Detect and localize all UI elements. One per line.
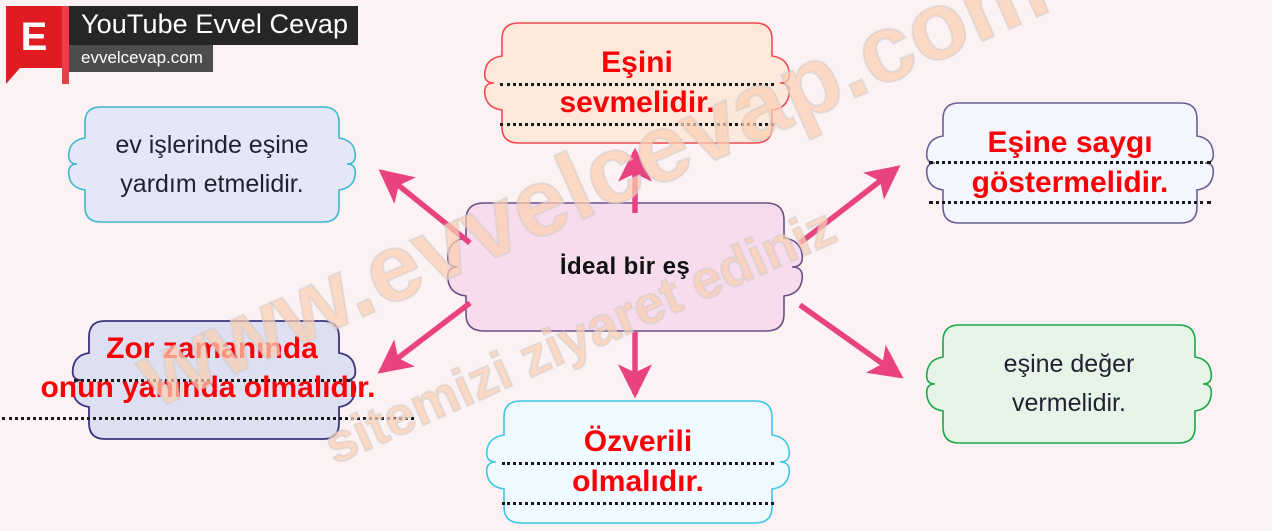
node-bottom-center-line2: olmalıdır. [502,466,774,498]
logo-letter: E [21,17,48,57]
node-bottom-left-line2: onun yanında olmalıdır. [0,372,416,404]
node-top-center-content: Eşini sevmelidir. [478,18,796,148]
node-top-left-line1: ev işlerinde eşine [115,126,308,165]
node-bottom-right-line1: eşine değer [1004,345,1135,384]
answer-line-1: Eşine saygı [929,127,1211,159]
node-bottom-left-line1: Zor zamanında [74,333,350,365]
node-top-center[interactable]: Eşini sevmelidir. [478,18,796,148]
dotted-rule [929,201,1211,204]
arrow-center-to-top-right [800,168,897,243]
arrow-center-to-bottom-right [800,305,900,376]
node-top-center-line1: Eşini [500,47,773,79]
answer-line-1: Eşini [500,47,773,79]
logo-accent-bar [62,6,69,84]
answer-line-2: olmalıdır. [502,466,774,498]
node-bottom-right-line2: vermelidir. [1012,384,1126,423]
logo-title: YouTube Evvel Cevap [69,6,358,45]
node-center-label: İdeal bir eş [560,253,690,281]
node-bottom-right-content: eşine değer vermelidir. [920,320,1218,448]
answer-line-1: Özverili [502,426,774,458]
node-top-right-line1: Eşine saygı [929,127,1211,159]
dotted-rule [502,502,774,505]
node-top-left[interactable]: ev işlerinde eşine yardım etmelidir. [62,102,362,227]
dotted-rule [929,161,1211,164]
node-center[interactable]: İdeal bir eş [440,198,810,336]
logo-text-column: YouTube Evvel Cevap evvelcevap.com [69,6,358,72]
answer-line-2: sevmelidir. [500,87,773,119]
node-top-left-line2: yardım etmelidir. [120,165,303,204]
node-bottom-right[interactable]: eşine değer vermelidir. [920,320,1218,448]
node-top-center-line2: sevmelidir. [500,87,773,119]
dotted-rule [2,417,414,420]
site-logo-badge: E YouTube Evvel Cevap evvelcevap.com [6,6,358,84]
node-center-content: İdeal bir eş [440,198,810,336]
dotted-rule [500,123,773,126]
answer-line-2: göstermelidir. [929,167,1211,199]
node-bottom-center[interactable]: Özverili olmalıdır. [480,396,796,528]
node-top-right-content: Eşine saygı göstermelidir. [920,98,1220,228]
evvelcevap-logo-icon: E [6,6,62,68]
logo-subtitle: evvelcevap.com [69,45,213,72]
diagram-canvas: www.evvelcevap.com sitemizi ziyaret edin… [0,0,1272,531]
node-bottom-center-line1: Özverili [502,426,774,458]
node-top-right[interactable]: Eşine saygı göstermelidir. [920,98,1220,228]
node-top-right-line2: göstermelidir. [929,167,1211,199]
node-top-left-content: ev işlerinde eşine yardım etmelidir. [62,102,362,227]
node-bottom-center-content: Özverili olmalıdır. [480,396,796,528]
